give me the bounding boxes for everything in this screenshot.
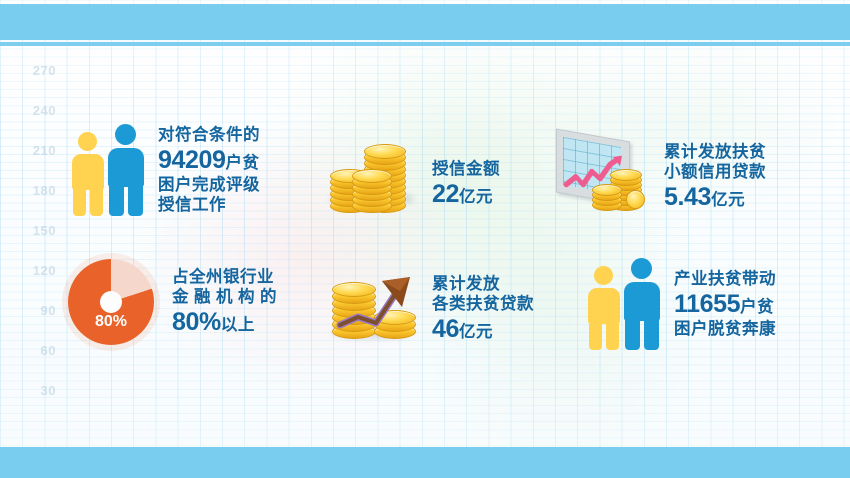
text-line: 小额信用贷款: [664, 162, 766, 182]
stat-unit: 户贫: [226, 154, 260, 172]
stat-number: 46: [432, 315, 459, 343]
stat-value: 80%以上: [172, 307, 282, 338]
stat-unit: 户贫: [740, 298, 774, 316]
stat-block-total-poverty-loans: 累计发放 各类扶贫贷款 46亿元: [330, 268, 534, 345]
chart-board-coins-icon: [556, 135, 642, 213]
person-figure-yellow: [588, 266, 620, 350]
two-people-icon: [588, 258, 660, 350]
stat-text-credit-amount: 授信金额 22亿元: [432, 159, 500, 210]
stat-text-micro-credit-loans: 累计发放扶贫 小额信用贷款 5.43亿元: [664, 142, 766, 213]
stat-text-total-poverty-loans: 累计发放 各类扶贫贷款 46亿元: [432, 274, 534, 345]
axis-tick-2: 210: [33, 143, 56, 158]
stat-number: 94209: [158, 146, 226, 174]
stat-value: 11655户贫: [674, 289, 776, 320]
person-figure-yellow: [72, 132, 104, 216]
stat-block-households-credit-rated: 对符合条件的 94209户贫 困户完成评级 授信工作: [72, 124, 260, 216]
top-banner-underline: [0, 42, 850, 46]
text-line: 金融机构的: [172, 287, 282, 307]
stat-number: 11655: [674, 290, 740, 318]
coin-stack-board-front: [592, 181, 620, 211]
stat-unit: 亿元: [459, 188, 493, 206]
infographic-canvas: 270 240 210 180 150 120 90 60 30: [0, 0, 850, 478]
stat-value: 5.43亿元: [664, 182, 766, 213]
text-line: 授信金额: [432, 159, 500, 179]
stat-number: 5.43: [664, 183, 711, 211]
donut-hole: [100, 291, 122, 313]
coin-single: [626, 190, 645, 209]
bottom-banner-bar: [0, 447, 850, 478]
axis-tick-3: 180: [33, 183, 56, 198]
text-line: 困户完成评级: [158, 175, 260, 195]
person-figure-blue: [108, 124, 144, 216]
text-line: 各类扶贫贷款: [432, 294, 534, 314]
text-line: 对符合条件的: [158, 125, 260, 145]
stat-block-micro-credit-loans: 累计发放扶贫 小额信用贷款 5.43亿元: [556, 135, 766, 213]
stat-value: 46亿元: [432, 314, 534, 345]
stat-block-industry-poverty-relief: 产业扶贫带动 11655户贫 困户脱贫奔康: [588, 258, 776, 350]
axis-tick-1: 240: [33, 103, 56, 118]
text-line: 授信工作: [158, 195, 260, 215]
stat-number: 80%: [172, 308, 221, 336]
coin-stacks-icon: [330, 133, 416, 213]
stat-text-share-of-banking-institutions: 占全州银行业 金融机构的 80%以上: [172, 267, 282, 338]
text-line: 累计发放: [432, 274, 534, 294]
stat-number: 22: [432, 180, 459, 208]
axis-tick-4: 150: [33, 223, 56, 238]
donut-label: 80%: [68, 313, 154, 331]
coins-growth-arrow-icon: [330, 273, 418, 339]
person-figure-blue: [624, 258, 660, 350]
donut-chart-icon: 80%: [68, 259, 154, 345]
two-people-icon: [72, 124, 144, 216]
stat-unit: 亿元: [711, 191, 745, 209]
growth-arrow-icon: [336, 273, 424, 335]
stat-text-households-credit-rated: 对符合条件的 94209户贫 困户完成评级 授信工作: [158, 125, 260, 216]
axis-tick-0: 270: [33, 63, 56, 78]
text-line: 累计发放扶贫: [664, 142, 766, 162]
background-veil: [0, 0, 850, 478]
stat-unit: 以上: [221, 316, 255, 334]
stat-text-industry-poverty-relief: 产业扶贫带动 11655户贫 困户脱贫奔康: [674, 269, 776, 340]
y-axis-tick-labels: 270 240 210 180 150 120 90 60 30: [6, 55, 56, 425]
axis-tick-6: 90: [41, 303, 56, 318]
axis-tick-8: 30: [41, 383, 56, 398]
stat-value: 94209户贫: [158, 145, 260, 176]
axis-tick-7: 60: [41, 343, 56, 358]
stat-block-share-of-banking-institutions: 80% 占全州银行业 金融机构的 80%以上: [68, 259, 282, 345]
stat-value: 22亿元: [432, 179, 500, 210]
text-line: 困户脱贫奔康: [674, 319, 776, 339]
axis-tick-5: 120: [33, 263, 56, 278]
top-banner-bar: [0, 4, 850, 40]
text-line: 占全州银行业: [172, 267, 282, 287]
text-line: 产业扶贫带动: [674, 269, 776, 289]
stat-unit: 亿元: [459, 323, 493, 341]
stat-block-credit-amount: 授信金额 22亿元: [330, 133, 500, 213]
coin-stack-front: [352, 165, 390, 213]
